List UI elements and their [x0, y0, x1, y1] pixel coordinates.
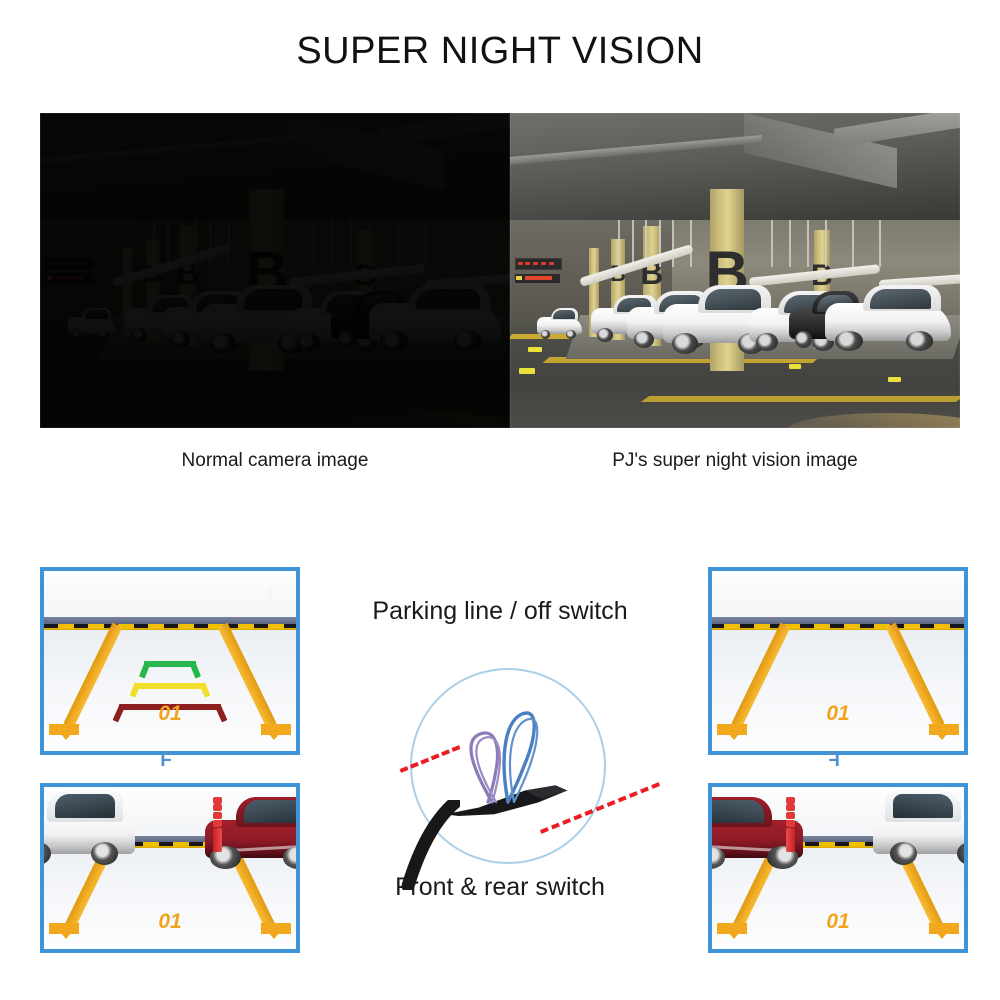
parking-line-switch-label: Parking line / off switch	[310, 597, 690, 626]
panel-number-label: 01	[712, 910, 964, 934]
normal-camera-photo: B B B B	[40, 113, 510, 428]
panel-orientation-label-front: F	[40, 750, 292, 772]
guide-arrow-right	[720, 724, 748, 740]
photo-frame	[510, 113, 960, 428]
rear-view-mirrored: 01	[712, 787, 964, 949]
photo-frame	[40, 113, 510, 428]
guideline-view: 1 01	[44, 571, 296, 751]
page-title: SUPER NIGHT VISION	[0, 30, 1000, 73]
adjacent-car-white	[40, 790, 135, 865]
guideline-view-mirrored: 01	[712, 571, 964, 751]
panel-number-label: 01	[712, 702, 964, 726]
cable-tail	[408, 800, 458, 886]
obstacle-post	[213, 797, 222, 852]
sky	[44, 571, 296, 618]
panel-number-label: 01	[44, 910, 296, 934]
sky	[712, 571, 964, 618]
obstacle-post	[786, 797, 795, 852]
guide-arrow-left	[928, 724, 956, 740]
guide-arrow-left	[52, 724, 80, 740]
panel-rear-view[interactable]: 01	[40, 783, 300, 953]
product-feature-page: SUPER NIGHT VISION	[0, 0, 1000, 1000]
panel-parking-lines-on[interactable]: 1 01	[40, 567, 300, 755]
normal-camera-caption: Normal camera image	[40, 450, 510, 472]
ghost-marker: 1	[266, 584, 273, 599]
rear-view: 01	[44, 787, 296, 949]
panel-orientation-label-front-mirrored: F	[708, 750, 960, 772]
wheel-stop-face	[44, 624, 296, 630]
panel-rear-view-mirrored[interactable]: 01	[708, 783, 968, 953]
panel-parking-lines-off[interactable]: 01	[708, 567, 968, 755]
panel-number-label: 01	[44, 702, 296, 726]
cable-wires-svg	[430, 690, 610, 810]
night-vision-photo: B B B B	[510, 113, 960, 428]
wheel-stop-face	[712, 624, 964, 630]
adjacent-car-white	[873, 790, 968, 865]
cable-tail-svg	[400, 800, 460, 890]
guide-arrow-right	[260, 724, 288, 740]
front-rear-switch-label: Front & rear switch	[330, 873, 670, 902]
purple-wire-loop	[471, 733, 497, 802]
night-vision-caption: PJ's super night vision image	[510, 450, 960, 472]
